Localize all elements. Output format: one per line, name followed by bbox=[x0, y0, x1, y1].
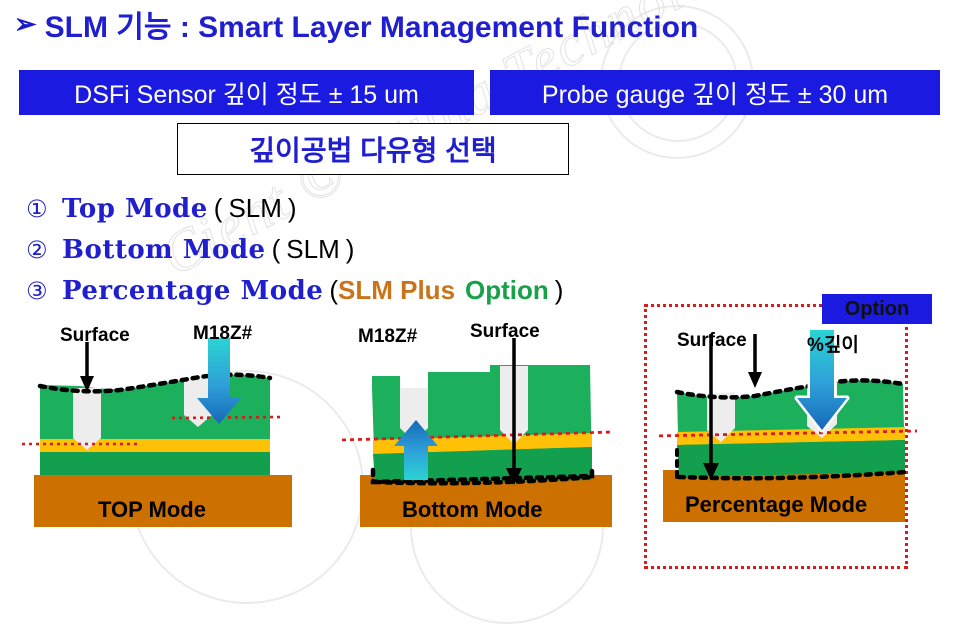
mode-paren-close-1: ) bbox=[288, 188, 297, 228]
mode-list-item-top: ① Top Mode ( SLM ) bbox=[26, 188, 563, 229]
mode-paren-open-1: ( bbox=[214, 188, 223, 228]
diagram-bottom-mode: M18Z# Surface bbox=[340, 320, 640, 555]
list-number-1: ① bbox=[26, 189, 62, 229]
mode-name-bottom: Bottom Mode bbox=[62, 230, 266, 270]
option-badge: Option bbox=[822, 294, 932, 324]
arrow-bullet-icon: ➢ bbox=[14, 11, 37, 38]
mode-paren-open-2: ( bbox=[272, 229, 281, 269]
diagram-top-label-m18z: M18Z# bbox=[193, 323, 252, 345]
list-number-3: ③ bbox=[26, 271, 62, 311]
list-number-2: ② bbox=[26, 230, 62, 270]
mode-name-percentage: Percentage Mode bbox=[62, 271, 323, 311]
diagram-pct-graphic bbox=[655, 320, 945, 555]
mode-list-item-bottom: ② Bottom Mode ( SLM ) bbox=[26, 229, 563, 270]
banner-probe-gauge: Probe gauge 깊이 정도 ± 30 um bbox=[490, 70, 940, 115]
diagram-bottom-label-surface: Surface bbox=[470, 321, 540, 343]
page-title: ➢ SLM 기능 : Smart Layer Management Functi… bbox=[14, 2, 698, 46]
diagram-top-caption: TOP Mode bbox=[98, 497, 206, 523]
diagram-bottom-caption: Bottom Mode bbox=[402, 497, 543, 523]
diagram-pct-label-percent-depth: %깊이 bbox=[807, 330, 859, 357]
slide-canvas: Cient © Otuna Technology ➢ SLM 기능 : Smar… bbox=[0, 0, 960, 575]
mode-paren-close-3: ) bbox=[555, 270, 564, 310]
banner-dsfi-sensor: DSFi Sensor 깊이 정도 ± 15 um bbox=[19, 70, 474, 115]
mode-name-top: Top Mode bbox=[62, 189, 208, 229]
diagram-pct-caption: Percentage Mode bbox=[685, 492, 867, 518]
mode-paren-close-2: ) bbox=[346, 229, 355, 269]
mode-tag-slm-plus: SLM Plus bbox=[338, 270, 455, 310]
page-title-text: SLM 기능 : Smart Layer Management Function bbox=[45, 2, 699, 46]
diagram-pct-label-surface: Surface bbox=[677, 330, 747, 352]
diagram-percentage-mode: Surface %깊이 bbox=[655, 320, 945, 555]
mode-tag-slm-2: SLM bbox=[286, 229, 339, 269]
diagram-top-mode: Surface M18Z# bbox=[20, 320, 320, 555]
mode-list: ① Top Mode ( SLM ) ② Bottom Mode ( SLM )… bbox=[26, 188, 563, 311]
diagram-top-label-surface: Surface bbox=[60, 325, 130, 347]
mode-tag-option: Option bbox=[465, 270, 549, 310]
mode-paren-open-3: ( bbox=[329, 270, 338, 310]
mode-tag-slm-1: SLM bbox=[228, 188, 281, 228]
heading-box-text: 깊이공법 다유형 선택 bbox=[249, 129, 496, 169]
heading-box-depth-method: 깊이공법 다유형 선택 bbox=[177, 123, 569, 175]
diagram-bottom-label-m18z: M18Z# bbox=[358, 326, 417, 348]
mode-list-item-percentage: ③ Percentage Mode ( SLM Plus Option ) bbox=[26, 270, 563, 311]
